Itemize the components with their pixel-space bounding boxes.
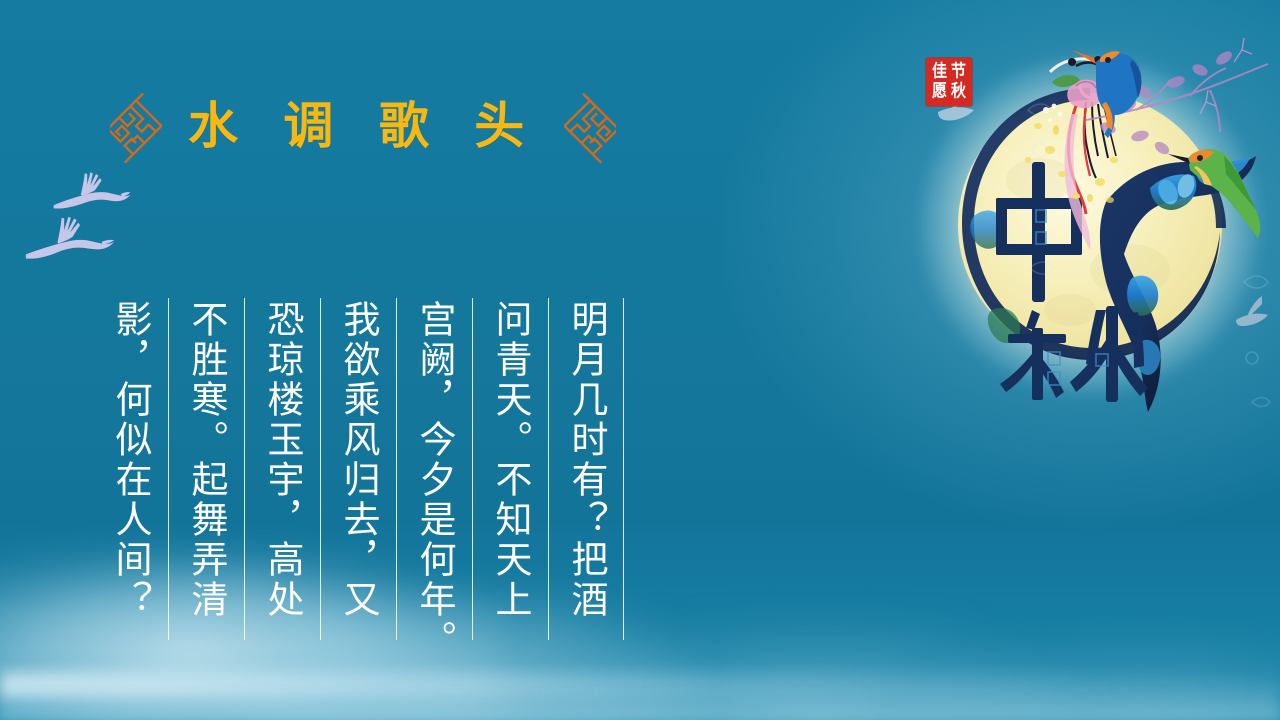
poem-column-text: 宫阙，今夕是何年。 — [415, 298, 453, 660]
column-divider — [396, 298, 397, 640]
seal-character: 愿 — [931, 82, 948, 103]
poem-column: 问青天。不知天上 — [472, 298, 548, 620]
poem-column-text: 不胜寒。起舞弄清 — [187, 298, 225, 620]
column-divider — [548, 298, 549, 640]
poem-column-text: 我欲乘风归去，又 — [339, 298, 377, 620]
column-divider — [623, 298, 624, 640]
chinese-fret-ornament-icon — [564, 88, 616, 164]
seal-character: 佳 — [931, 62, 948, 83]
poem-columns: 明月几时有？把酒 问青天。不知天上 宫阙，今夕是何年。 我欲乘风归去，又 恐琼楼… — [92, 298, 624, 650]
mid-autumn-moon-artwork: 佳 节 愿 秋 — [900, 10, 1280, 440]
poem-column: 恐琼楼玉宇，高处 — [244, 298, 320, 620]
column-divider — [320, 298, 321, 640]
slide-title-bar: 水 调 歌 头 — [110, 88, 616, 164]
column-divider — [168, 298, 169, 640]
poem-column: 不胜寒。起舞弄清 — [168, 298, 244, 620]
poem-column: 明月几时有？把酒 — [548, 298, 624, 620]
page-title: 水 调 歌 头 — [188, 101, 538, 151]
poem-column: 影，何似在人间？ — [92, 298, 168, 620]
chinese-fret-ornament-icon — [110, 88, 162, 164]
poem-column: 宫阙，今夕是何年。 — [396, 298, 472, 660]
poem-column-text: 问青天。不知天上 — [491, 298, 529, 620]
column-divider — [244, 298, 245, 640]
seal-character: 节 — [950, 62, 967, 83]
poem-column-text: 影，何似在人间？ — [111, 298, 149, 620]
seal-character: 秋 — [950, 82, 967, 103]
poem-column-text: 恐琼楼玉宇，高处 — [263, 298, 301, 620]
column-divider — [472, 298, 473, 640]
poem-column-text: 明月几时有？把酒 — [567, 298, 605, 620]
poem-column: 我欲乘风归去，又 — [320, 298, 396, 620]
red-seal-stamp: 佳 节 愿 秋 — [926, 58, 972, 106]
